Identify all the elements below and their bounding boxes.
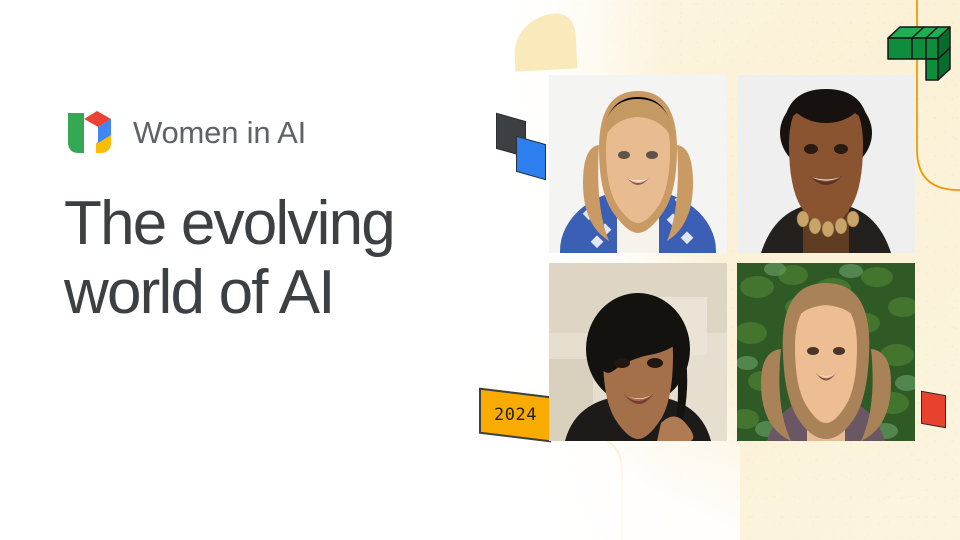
headline-line-1: The evolving (64, 189, 394, 258)
portrait-illustration (549, 75, 727, 253)
page-title: The evolving world of AI (64, 189, 464, 328)
speaker-photo-grid (549, 75, 915, 443)
slide-root: 2024 (0, 0, 960, 540)
left-content: Women in AI The evolving world of AI (64, 0, 464, 540)
year-badge: 2024 (479, 388, 551, 443)
portrait-illustration (737, 75, 915, 253)
portrait-illustration (737, 263, 915, 441)
year-badge-label: 2024 (494, 405, 537, 425)
brand-lockup: Women in AI (64, 108, 306, 157)
speaker-photo (737, 75, 915, 253)
speaker-photo (549, 75, 727, 253)
speaker-photo (549, 263, 727, 441)
brand-name: Women in AI (133, 115, 306, 151)
red-parallelogram (921, 391, 946, 428)
women-in-ai-cube-logo-icon (64, 108, 116, 157)
headline-line-2: world of AI (64, 258, 334, 327)
portrait-illustration (549, 263, 727, 441)
speaker-photo (737, 263, 915, 441)
